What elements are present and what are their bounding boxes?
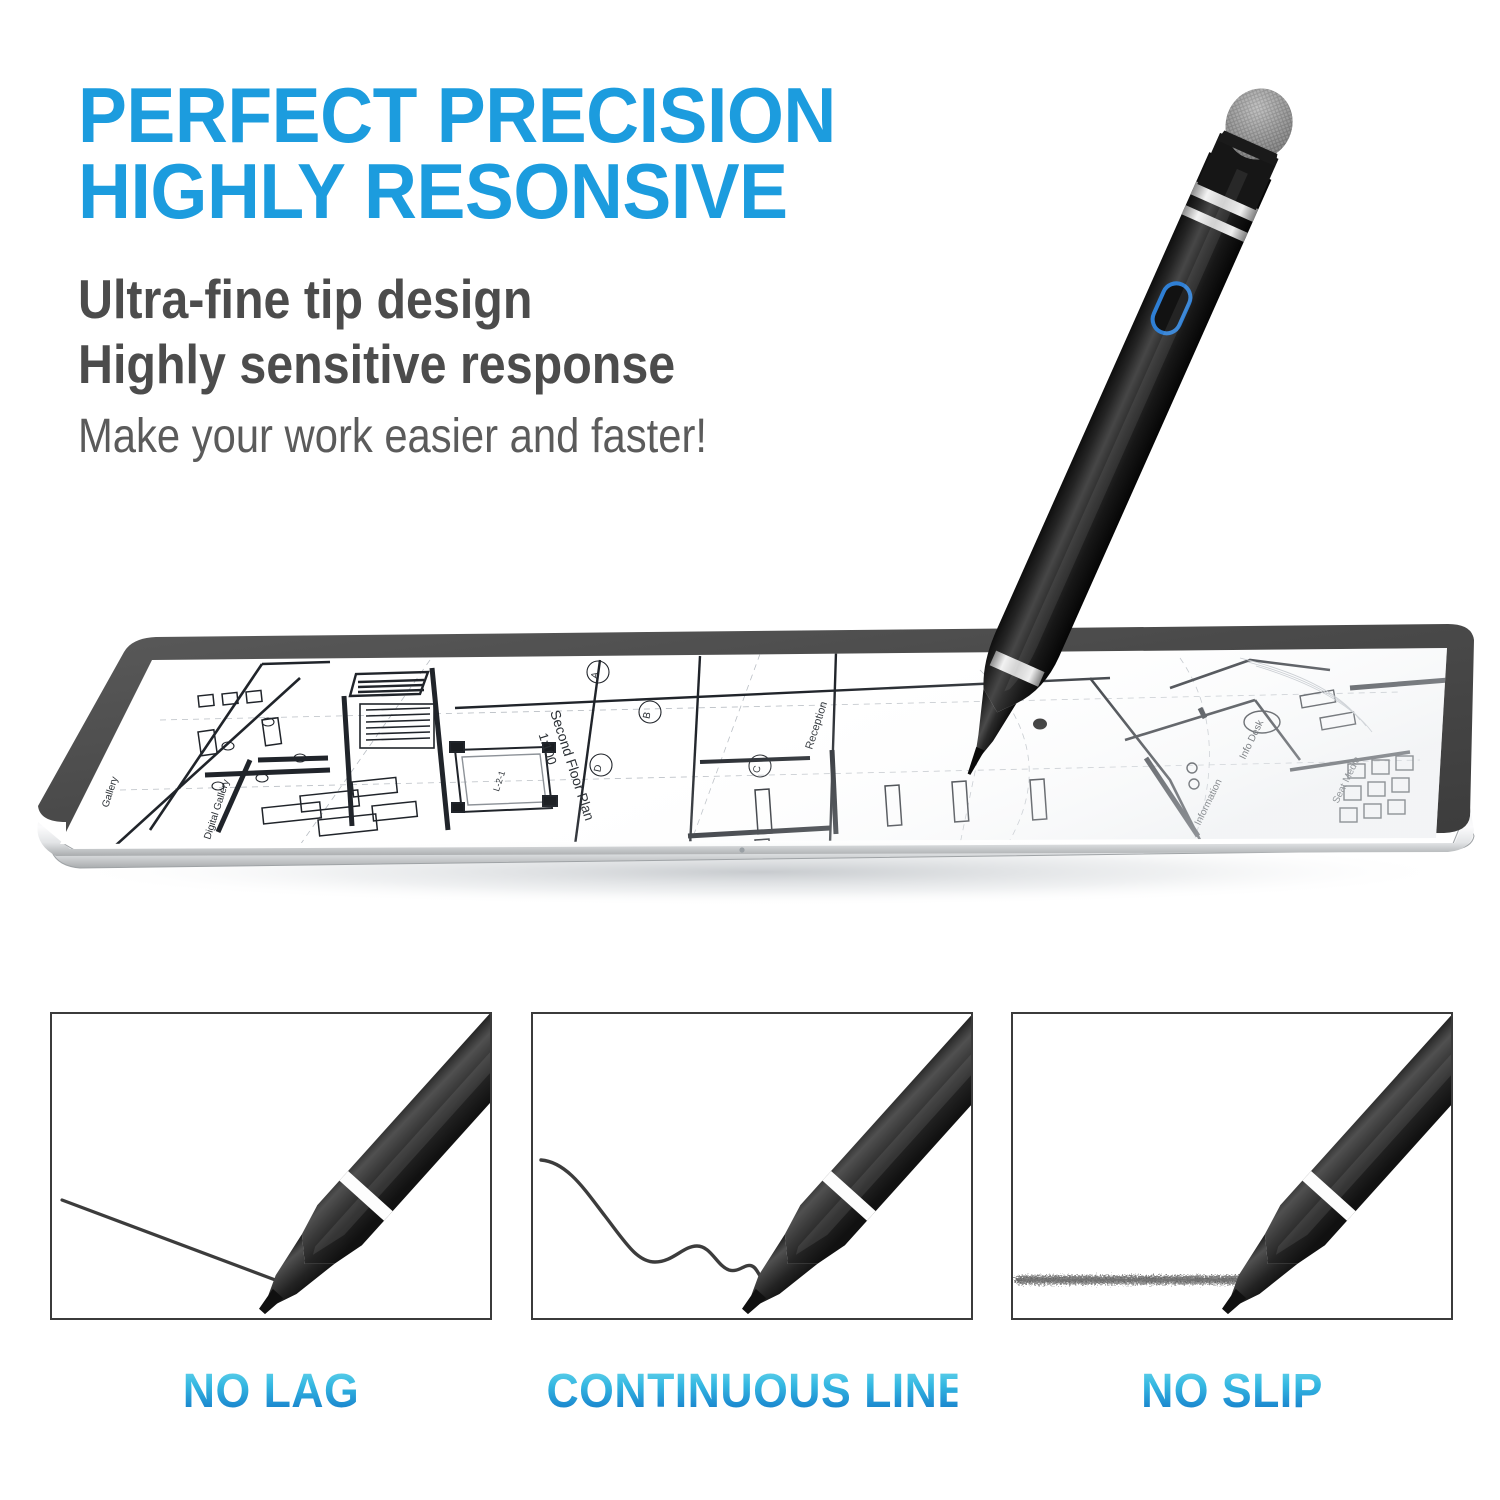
stylus-upper-ring-2 [1182, 205, 1248, 242]
tablet-device: L-2-1 Second Floor Plan 1:100 [0, 600, 1500, 920]
caption-no-lag: NO LAG [65, 1364, 476, 1419]
panel-clip-continuous-line [533, 1014, 971, 1318]
headline-line-2: HIGHLY RESONSIVE [78, 154, 924, 230]
stylus-mesh-tip [1214, 78, 1304, 171]
feature-panel-no-lag [50, 1012, 492, 1320]
tablet-svg: L-2-1 Second Floor Plan 1:100 [0, 600, 1500, 920]
panel-clip-no-lag [52, 1014, 490, 1318]
caption-no-slip: NO SLIP [1026, 1364, 1437, 1419]
stylus-upper-ring-1 [1191, 181, 1259, 221]
tagline: Make your work easier and faster! [78, 411, 861, 464]
headline-line-1: PERFECT PRECISION [78, 78, 924, 154]
panel-clip-no-slip [1013, 1014, 1451, 1318]
copy-block: PERFECT PRECISION HIGHLY RESONSIVE Ultra… [78, 78, 978, 464]
no-lag-illustration [52, 1014, 490, 1318]
product-banner: PERFECT PRECISION HIGHLY RESONSIVE Ultra… [0, 0, 1500, 1500]
subheadline-line-2: Highly sensitive response [78, 332, 870, 397]
stylus-mesh-tip-shade [1214, 78, 1304, 171]
feature-panel-continuous-line [531, 1012, 973, 1320]
stylus-cap [1197, 133, 1278, 210]
caption-continuous-line: CONTINUOUS LINE [546, 1364, 957, 1419]
stylus-power-button[interactable] [1148, 279, 1195, 338]
feature-panel-row: NO LAG CONTINUOUS LINE NO SLIP [0, 1012, 1500, 1500]
no-slip-illustration [1013, 1014, 1451, 1318]
tablet-camera-dot [739, 847, 744, 852]
feature-panel-no-slip [1011, 1012, 1453, 1320]
subheadline-line-1: Ultra-fine tip design [78, 267, 870, 332]
subheadline-block: Ultra-fine tip design Highly sensitive r… [78, 267, 978, 464]
stylus-mesh-neck [1217, 129, 1280, 166]
continuous-line-illustration [533, 1014, 971, 1318]
